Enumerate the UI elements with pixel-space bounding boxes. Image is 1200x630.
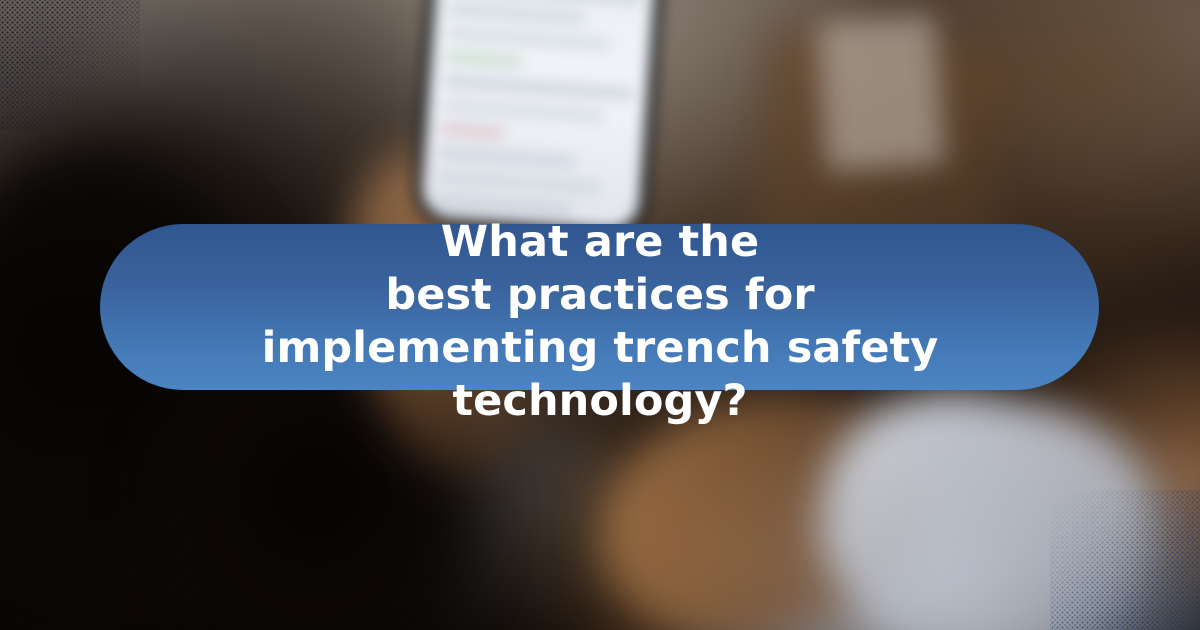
question-card-canvas: What are the best practices for implemen… (0, 0, 1200, 630)
headline-pill-banner (100, 224, 1099, 390)
background-paper-shape (817, 14, 945, 172)
background-smartphone (420, 0, 658, 231)
smartphone-screen-content (435, 0, 640, 216)
